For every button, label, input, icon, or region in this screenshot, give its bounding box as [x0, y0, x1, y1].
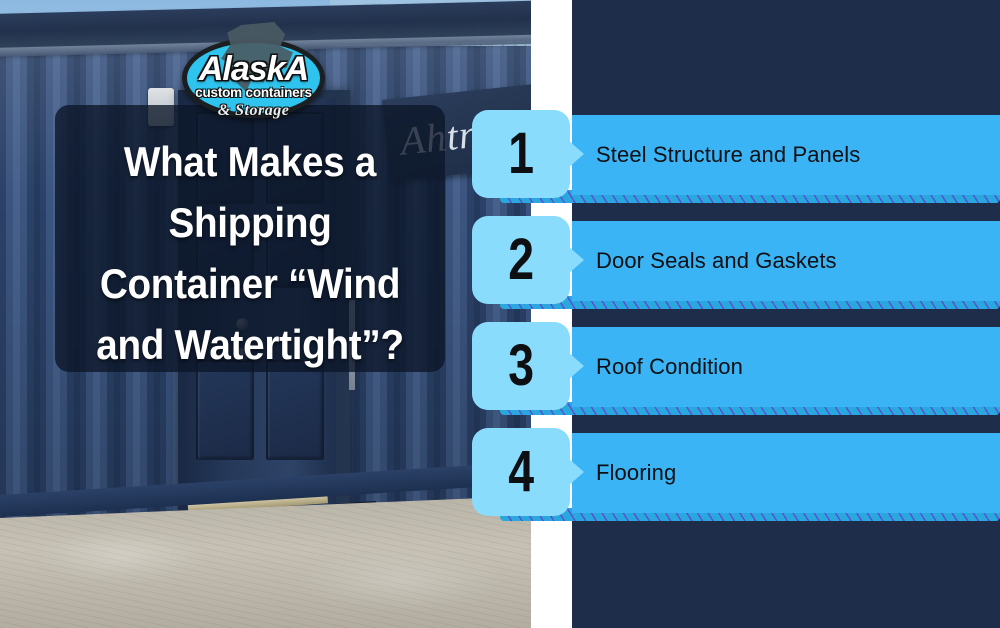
row-number: 3	[508, 337, 534, 395]
list-item[interactable]: 1 Steel Structure and Panels	[0, 107, 1000, 207]
row-number-badge: 1	[472, 110, 570, 198]
row-label: Steel Structure and Panels	[596, 115, 860, 195]
logo-wordmark: AlaskA	[176, 52, 331, 86]
logo-tagline: custom containers	[176, 85, 331, 100]
right-navy-panel	[572, 0, 1000, 628]
list-item[interactable]: 2 Door Seals and Gaskets	[0, 213, 1000, 313]
row-number-badge: 3	[472, 322, 570, 410]
row-pointer-icon	[568, 246, 584, 274]
infographic-canvas: Ahtn What Makes a Shipping Container “Wi…	[0, 0, 1000, 628]
row-pointer-icon	[568, 352, 584, 380]
row-pointer-icon	[568, 140, 584, 168]
row-label: Flooring	[596, 433, 676, 513]
list-item[interactable]: 4 Flooring	[0, 425, 1000, 525]
row-number-badge: 2	[472, 216, 570, 304]
row-number: 1	[508, 125, 534, 183]
row-pointer-icon	[568, 458, 584, 486]
row-label: Door Seals and Gaskets	[596, 221, 837, 301]
row-number: 4	[508, 443, 534, 501]
row-number-badge: 4	[472, 428, 570, 516]
row-label: Roof Condition	[596, 327, 743, 407]
row-number: 2	[508, 231, 534, 289]
list-item[interactable]: 3 Roof Condition	[0, 319, 1000, 419]
